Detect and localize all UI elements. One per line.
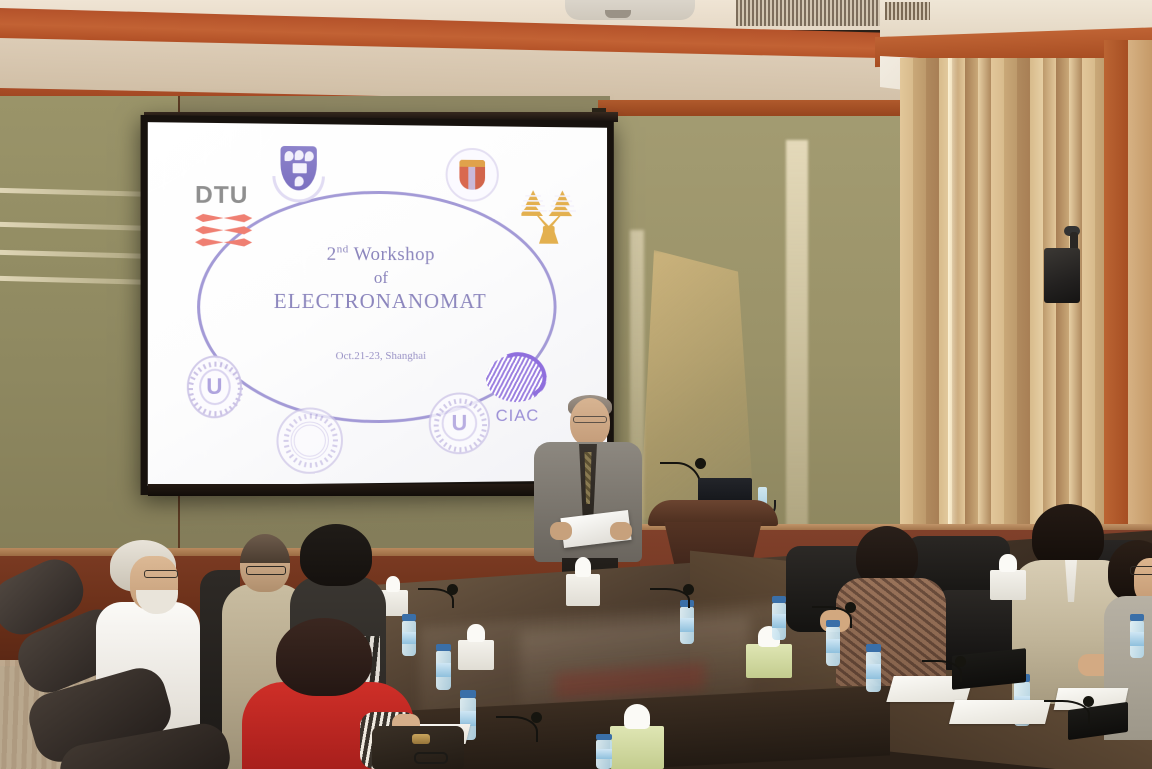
water-bottle[interactable] [1130,614,1144,658]
attendee-head [300,524,372,586]
curtain-fold [1082,58,1095,558]
presenter-right-hand [610,522,632,540]
presenter-glasses [573,416,607,423]
attendee-glasses [246,566,286,575]
curtain-fold [1056,58,1069,558]
curtain-fold [991,58,1004,558]
curtain-fold [913,58,926,558]
desk-microphone[interactable] [812,606,852,628]
dtu-logo-marks [195,214,258,247]
presenter-left-hand [550,522,572,540]
water-bottle[interactable] [866,644,881,692]
tissue-box[interactable] [746,644,792,678]
university-seal-logo-1: U [187,355,242,418]
gold-tree-logo [521,186,576,246]
curtain-edge-light [948,58,958,558]
curtain-fold [1069,58,1082,558]
curtain-fold [900,58,913,558]
crest-shield-icon [459,160,485,190]
seal-ticks [193,362,236,413]
attendee-head [240,534,290,592]
curtain-fold [926,58,939,558]
curtain-fold [1004,58,1017,558]
slide-title-number: 2 [327,244,337,265]
laurel-wreath-icon [272,176,324,203]
desk-microphone[interactable] [650,588,690,608]
handbag-clasp [412,734,430,744]
ceiling-air-vent-right [885,2,930,20]
attendee-glasses [144,570,178,578]
tissue-box[interactable] [458,640,494,670]
slide-title: 2nd Workshop of ELECTRONANOMAT [220,242,539,315]
seal-ring-icon: U [187,355,242,418]
curtain-fold [965,58,978,558]
slide-title-word: Workshop [349,244,435,265]
university-seal-logo-2 [276,407,343,474]
circular-crest-logo [446,148,499,202]
center-wall-top-trim [598,100,904,116]
shield-crest-logo [272,146,324,209]
tissue-box[interactable] [566,574,600,606]
curtain-fold [978,58,991,558]
seal-ticks [283,413,337,468]
desk-microphone[interactable] [418,588,454,608]
dtu-logo: DTU [195,183,258,256]
ciac-disc-icon [486,354,547,404]
crest-circle-icon [446,148,499,202]
water-bottle[interactable] [436,644,451,690]
desk-microphone[interactable] [922,660,962,682]
desk-microphone[interactable] [496,716,538,742]
wall-light-stripe [786,140,808,530]
documents[interactable] [949,700,1051,724]
attendee-glasses [1130,566,1152,575]
conference-room-photo: 2nd Workshop of ELECTRONANOMAT Oct.21-23… [0,0,1152,769]
water-bottle[interactable] [772,596,786,640]
eyeglasses-on-table[interactable] [414,752,448,764]
curtain-fold [1017,58,1030,558]
tissue-box[interactable] [990,570,1026,600]
slide-title-ordinal: nd [337,243,349,255]
tissue-box[interactable] [610,726,664,769]
slide-title-main: ELECTRONANOMAT [220,288,539,316]
slide-title-of: of [220,266,539,288]
seal-ticks [435,398,484,448]
curtain-fold [1043,58,1056,558]
projector-lens [605,10,631,18]
desk-microphone[interactable] [1044,700,1090,724]
wall-speaker [1044,248,1080,303]
seal-ring-icon [276,407,343,474]
curtain-fold [1030,58,1043,558]
ceiling-projector [565,0,695,20]
dtu-logo-label: DTU [195,183,258,208]
attendee-head [276,618,372,696]
water-bottle[interactable] [596,734,612,769]
wall-light-streaks [0,190,160,320]
